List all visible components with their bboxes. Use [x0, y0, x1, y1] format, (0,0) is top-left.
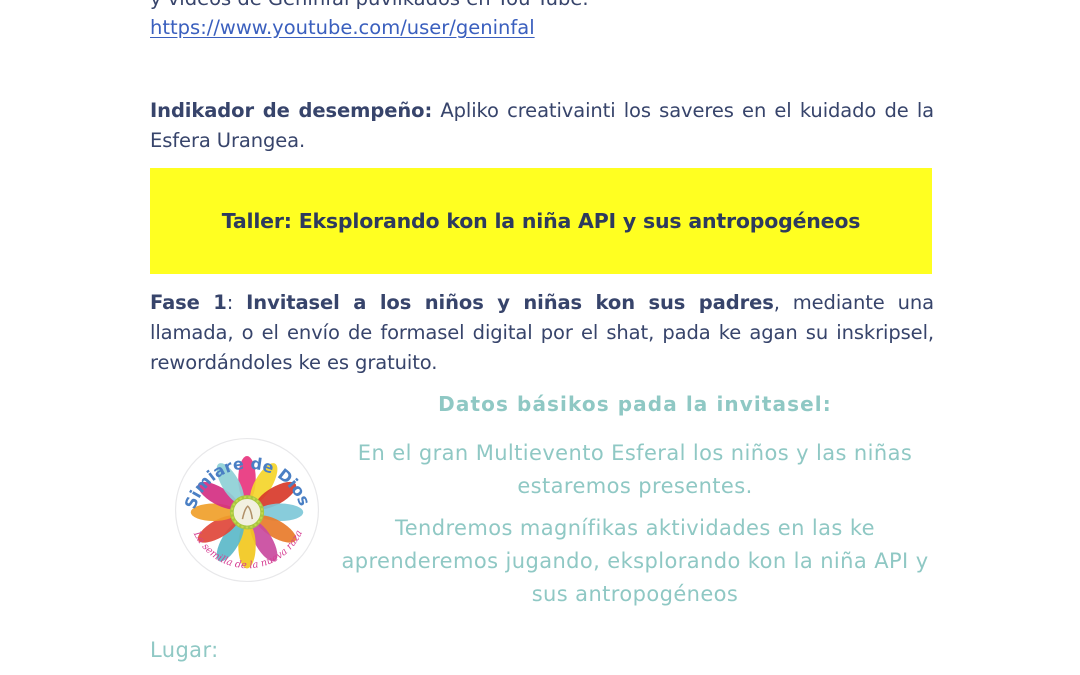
clipped-top-line: y videos de Geninfal puvlikados en You T…: [150, 0, 940, 14]
indikador-label: Indikador de desempeño:: [150, 99, 432, 122]
youtube-channel-link[interactable]: https://www.youtube.com/user/geninfal: [150, 14, 535, 42]
datos-line-one: En el gran Multievento Esferal los niños…: [330, 437, 940, 503]
fase1-label-prefix: Fase 1: [150, 291, 227, 314]
taller-banner-title: Taller: Eksplorando kon la niña API y su…: [222, 209, 861, 233]
logo-svg: Simiare de Dios La semilla de la nueva r…: [168, 434, 326, 586]
fase1-label-colon: :: [227, 291, 246, 314]
lugar-label: Lugar:: [150, 638, 350, 662]
simiare-de-dios-logo: Simiare de Dios La semilla de la nueva r…: [168, 434, 326, 586]
indikador-paragraph: Indikador de desempeño: Apliko creativai…: [150, 96, 934, 156]
fase1-label-bold: Invitasel a los niños y niñas kon sus pa…: [246, 291, 774, 314]
document-page: y videos de Geninfal puvlikados en You T…: [0, 0, 1080, 675]
taller-highlight-banner: Taller: Eksplorando kon la niña API y su…: [150, 168, 932, 274]
datos-basikos-heading: Datos básikos pada la invitasel:: [330, 392, 940, 416]
fase1-paragraph: Fase 1: Invitasel a los niños y niñas ko…: [150, 288, 934, 378]
datos-line-two: Tendremos magnífikas aktividades en las …: [330, 512, 940, 611]
